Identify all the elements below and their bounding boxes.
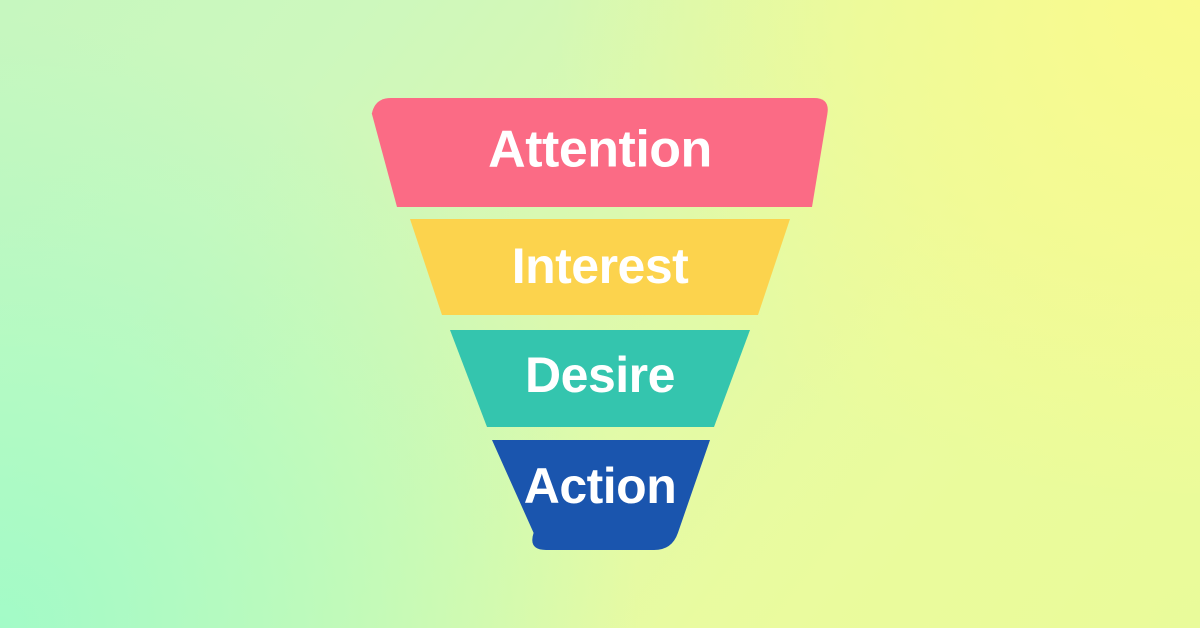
funnel-segment-label-desire: Desire <box>525 347 675 403</box>
funnel-segment-label-attention: Attention <box>488 121 712 179</box>
funnel-segment-interest[interactable]: Interest <box>410 219 790 315</box>
funnel-segment-label-interest: Interest <box>512 238 689 294</box>
funnel-segment-desire[interactable]: Desire <box>450 330 750 427</box>
aida-funnel-canvas: Attention Interest Desire Action <box>0 0 1200 628</box>
funnel-segment-attention[interactable]: Attention <box>372 98 828 207</box>
funnel-segment-action[interactable]: Action <box>492 440 710 550</box>
funnel-diagram: Attention Interest Desire Action <box>0 0 1200 628</box>
funnel-segment-label-action: Action <box>524 458 677 514</box>
